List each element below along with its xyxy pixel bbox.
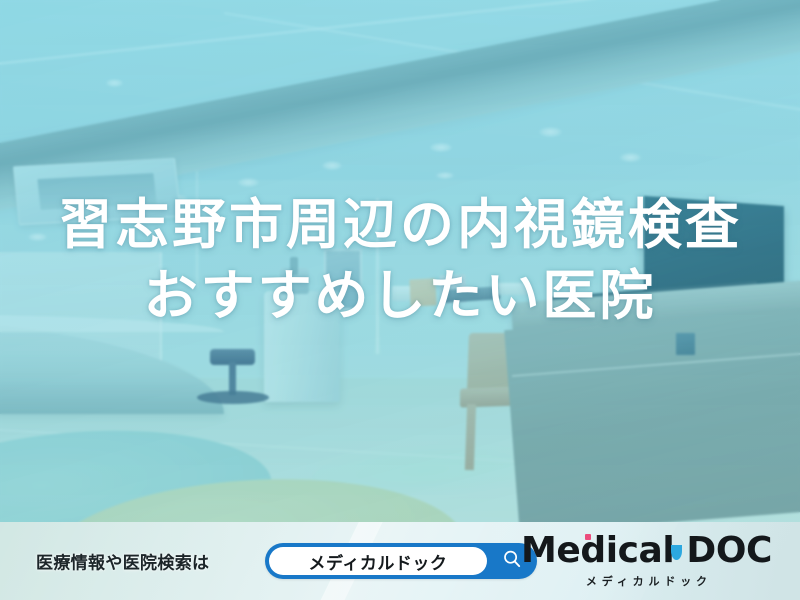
wooden-chair-leg bbox=[464, 404, 475, 470]
brochure bbox=[409, 278, 436, 306]
air-conditioner-grille bbox=[38, 173, 157, 211]
footer-bar: 医療情報や医院検索は メディカルドック Medical DOC bbox=[0, 522, 800, 600]
search-input[interactable]: メディカルドック bbox=[269, 547, 487, 575]
air-conditioner-vent bbox=[13, 158, 181, 225]
rolling-stool-post bbox=[229, 362, 236, 394]
search-bar[interactable]: メディカルドック bbox=[265, 543, 537, 579]
footer-lead-text: 医療情報や医院検索は bbox=[36, 549, 209, 574]
logo-subtitle: メディカルドック bbox=[581, 573, 712, 589]
search-icon bbox=[501, 548, 523, 575]
logo-wordmark-text: Medical DOC bbox=[521, 530, 772, 571]
ceiling-light bbox=[238, 178, 259, 187]
desk-item bbox=[392, 286, 410, 302]
ceiling-light bbox=[106, 79, 124, 87]
wall-sign bbox=[676, 333, 695, 355]
medical-device-cabinet bbox=[264, 291, 340, 402]
medical-doc-logo[interactable]: Medical DOC メディカルドック bbox=[521, 533, 772, 589]
logo-wordmark: Medical DOC bbox=[521, 533, 772, 569]
footer-content: 医療情報や医院検索は メディカルドック Medical DOC bbox=[0, 522, 800, 600]
reception-counter-body bbox=[504, 303, 800, 533]
ceiling-light bbox=[620, 153, 641, 162]
wall-edge-secondary bbox=[196, 168, 198, 288]
search-input-value: メディカルドック bbox=[309, 549, 448, 574]
logo-i-dot-icon bbox=[585, 534, 591, 540]
clinic-interior-photo bbox=[0, 0, 800, 600]
medical-device-arm bbox=[290, 257, 298, 275]
ceiling-light bbox=[539, 127, 561, 137]
wall-edge bbox=[376, 198, 379, 354]
hero-banner: 習志野市周辺の内視鏡検査 おすすめしたい医院 医療情報や医院検索は メディカルド… bbox=[0, 0, 800, 600]
desk-item bbox=[496, 283, 528, 295]
